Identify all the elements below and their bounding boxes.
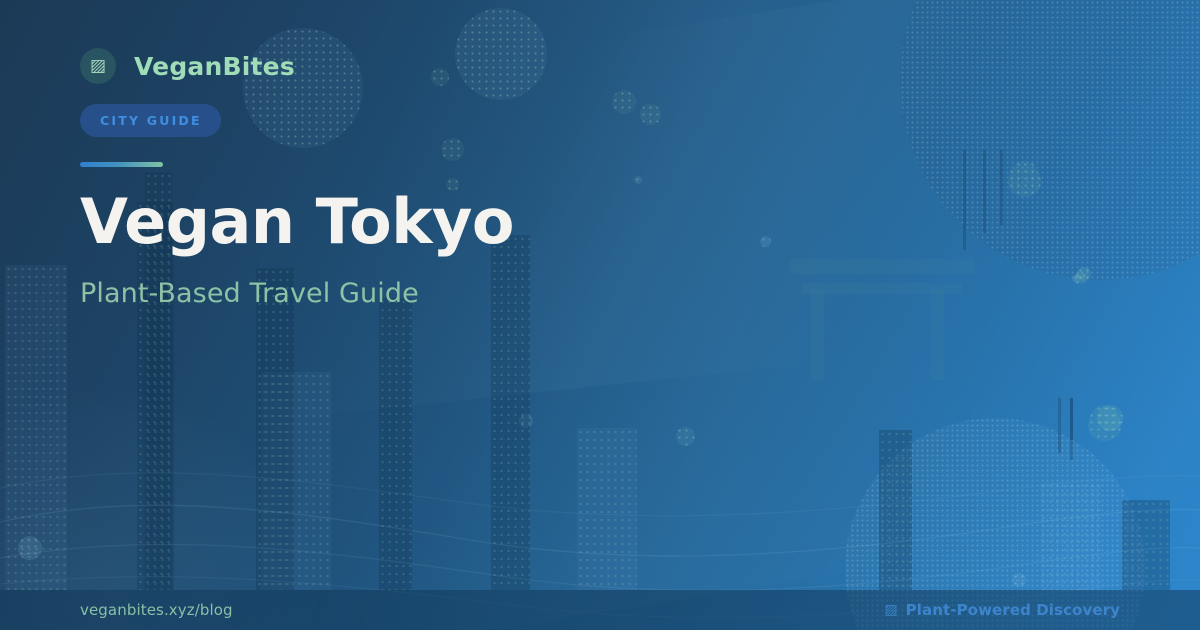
social-card: ▨ VeganBites CITY GUIDE Vegan Tokyo Plan…: [0, 0, 1200, 630]
footer-tagline-label: Plant-Powered Discovery: [906, 601, 1120, 619]
tofu-glyph-icon: ▨: [884, 603, 897, 617]
footer-tagline: ▨ Plant-Powered Discovery: [884, 601, 1120, 619]
category-badge[interactable]: CITY GUIDE: [80, 104, 221, 137]
card-content: ▨ VeganBites CITY GUIDE Vegan Tokyo Plan…: [0, 0, 1200, 630]
page-subtitle: Plant-Based Travel Guide: [80, 278, 1120, 309]
accent-bar: [80, 162, 163, 167]
footer-url[interactable]: veganbites.xyz/blog: [80, 601, 233, 619]
brand-lockup: ▨ VeganBites: [80, 48, 1120, 84]
tofu-glyph-icon: ▨: [80, 48, 116, 84]
brand-name: VeganBites: [134, 52, 295, 81]
card-footer: veganbites.xyz/blog ▨ Plant-Powered Disc…: [0, 590, 1200, 630]
page-title: Vegan Tokyo: [80, 189, 1120, 254]
